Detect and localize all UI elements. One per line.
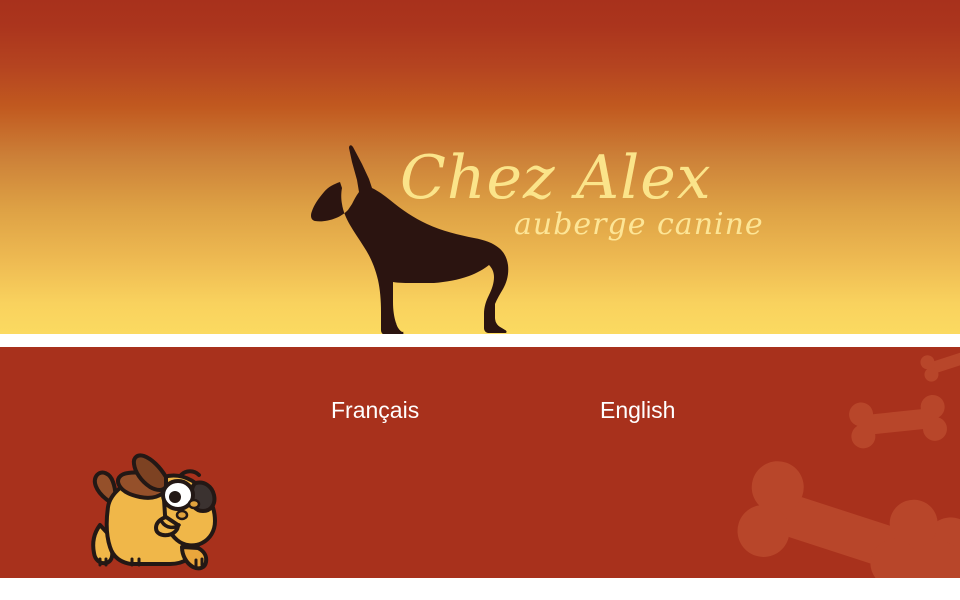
bone-icon-small: [919, 347, 960, 383]
language-links: Français English: [0, 395, 960, 425]
header-banner-inner: Chez Alex auberge canine: [0, 0, 960, 334]
language-link-francais[interactable]: Français: [331, 395, 419, 425]
bone-icon-edge: [862, 492, 960, 578]
language-link-english[interactable]: English: [600, 395, 675, 425]
bone-icon-large: [731, 454, 960, 578]
logo-subtitle: auberge canine: [514, 210, 764, 240]
white-separator: [0, 334, 960, 347]
page-root: Chez Alex auberge canine: [0, 0, 960, 600]
language-selection-panel: Français English: [0, 347, 960, 578]
doberman-dog-silhouette-icon: [296, 142, 526, 334]
cartoon-dog-mascot-icon: [78, 447, 248, 578]
header-banner: Chez Alex auberge canine: [0, 0, 960, 334]
